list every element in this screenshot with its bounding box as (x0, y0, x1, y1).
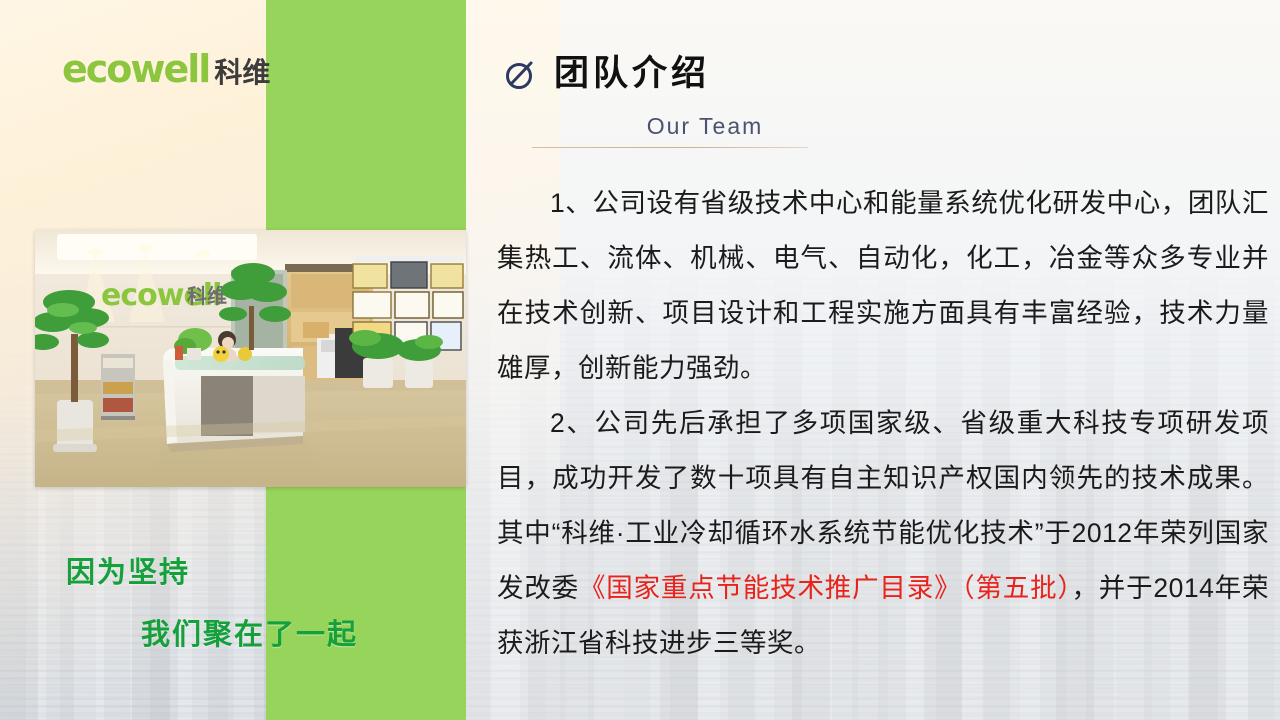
paragraph-2-highlight: 《国家重点节能技术推广目录》（第五批） (579, 573, 1072, 603)
diameter-circle-slash-icon (504, 57, 538, 91)
slogan-line-2: 我们聚在了一起 (141, 611, 358, 653)
title-divider (532, 147, 808, 148)
body-copy: 1、公司设有省级技术中心和能量系统优化研发中心，团队汇集热工、流体、机械、电气、… (497, 176, 1269, 671)
brand-logo-chinese: 科维 (214, 51, 270, 91)
page-title: 团队介绍 (554, 56, 710, 91)
slogan-line-1: 因为坚持 (66, 549, 190, 591)
svg-text:科维: 科维 (187, 284, 227, 308)
presentation-slide: ecowell 科维 (0, 0, 1280, 720)
paragraph-2: 2、公司先后承担了多项国家级、省级重大科技专项研发项目，成功开发了数十项具有自主… (497, 396, 1269, 671)
slide-title-row: 团队介绍 (504, 56, 710, 91)
page-subtitle: Our Team (565, 113, 845, 140)
office-photo-illustration: ecowell 科维 (35, 230, 466, 487)
office-reception-photo: ecowell 科维 (35, 230, 466, 487)
content-column: 团队介绍 Our Team 1、公司设有省级技术中心和能量系统优化研发中心，团队… (466, 0, 1280, 720)
brand-logo-wordmark: ecowell (62, 47, 209, 91)
paragraph-1: 1、公司设有省级技术中心和能量系统优化研发中心，团队汇集热工、流体、机械、电气、… (497, 176, 1269, 396)
brand-logo: ecowell 科维 (62, 47, 270, 91)
